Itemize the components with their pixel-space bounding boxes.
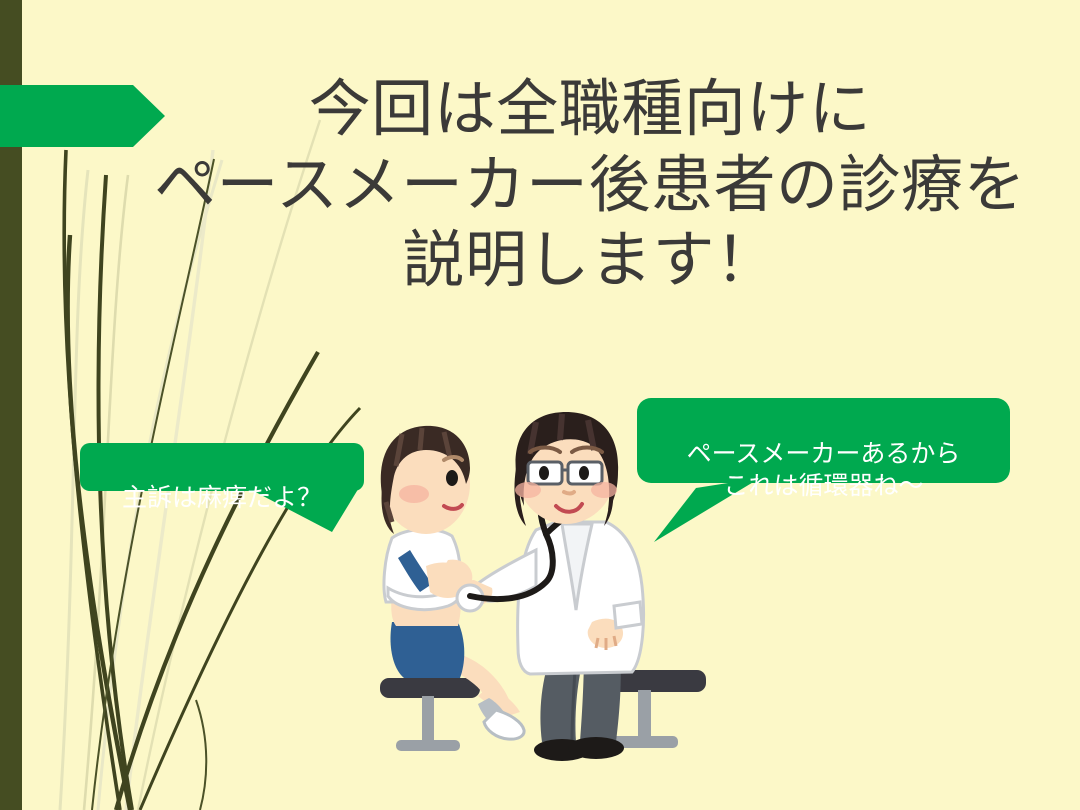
arrow-bullet-icon — [0, 85, 165, 147]
speech-bubble-left-text: 主訴は麻痺だよ？ — [96, 483, 348, 514]
speech-bubble-right[interactable]: ペースメーカーあるから これは循環器ね〜 — [637, 398, 1010, 483]
stool-left — [380, 678, 480, 751]
speech-bubble-right-text: ペースメーカーあるから これは循環器ね〜 — [653, 439, 994, 502]
title-line-3: 説明します！ — [150, 223, 1030, 299]
slide-canvas: 今回は全職種向けに ペースメーカー後患者の診療を 説明します！ — [0, 0, 1080, 810]
title-line-1: 今回は全職種向けに — [150, 72, 1030, 148]
title-line-2: ペースメーカー後患者の診療を — [150, 148, 1030, 224]
speech-bubble-left[interactable]: 主訴は麻痺だよ？ — [80, 443, 364, 491]
slide-title: 今回は全職種向けに ペースメーカー後患者の診療を 説明します！ — [150, 72, 1030, 299]
